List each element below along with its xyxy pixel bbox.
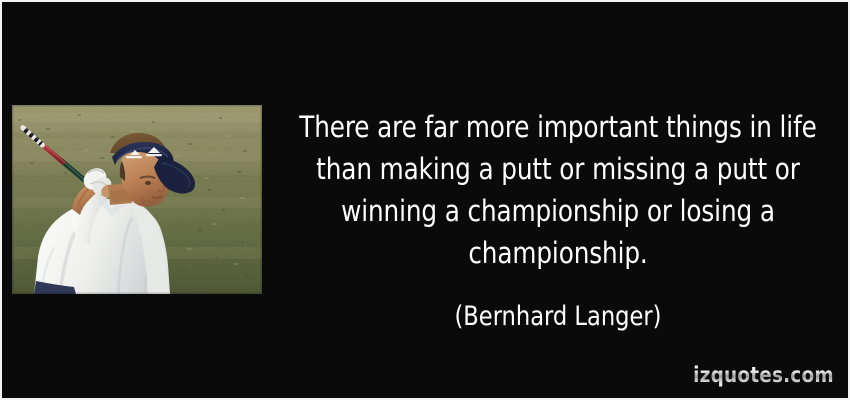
quote-text: There are far more important things in l…	[290, 106, 826, 274]
quote-card: There are far more important things in l…	[0, 0, 850, 400]
golfer-photo	[12, 105, 262, 294]
quote-author: (Bernhard Langer)	[290, 301, 826, 333]
golfer-photo-illustration	[12, 105, 262, 294]
izquotes-watermark[interactable]: izquotes.com	[693, 363, 834, 387]
quote-block: There are far more important things in l…	[270, 106, 846, 333]
